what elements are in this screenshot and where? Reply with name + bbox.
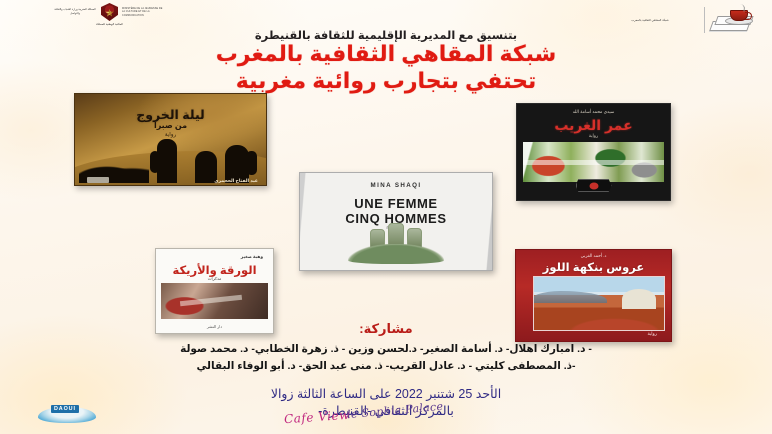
- book-2-cover-artwork: [523, 142, 664, 182]
- book-5-title: عروس بنكهة اللوز: [516, 260, 671, 274]
- poster-title: شبكة المقاهي الثقافية بالمغرب تحتفي بتجا…: [0, 41, 772, 95]
- book-2-author: سيدي محمد أسامة الله: [517, 109, 670, 115]
- book-4-title: الورقة والأريكة: [156, 263, 273, 277]
- poster-title-line-1: شبكة المقاهي الثقافية بالمغرب: [0, 41, 772, 68]
- steam-shape: [736, 3, 746, 11]
- book-cover-omar-algharib: سيدي محمد أسامة الله عمر الغريب رواية: [516, 103, 671, 201]
- ministry-logo-text-fr: MINISTÈRE DE LA JEUNESSE DE LA CULTURE E…: [122, 7, 166, 17]
- ministry-logo-subtitle: المكتبة الوطنية للمملكة: [42, 22, 177, 26]
- daoui-sponsor-logo: DAOUI: [38, 398, 96, 424]
- book-3-title: UNE FEMME CINQ HOMMES: [300, 197, 492, 226]
- person-silhouette-1: [157, 139, 177, 183]
- event-date-line: الأحد 25 شتنبر 2022 على الساعة الثالثة ز…: [0, 386, 772, 403]
- book-1-title-line-2: من صبرا: [75, 121, 266, 130]
- hamsa-palm: [348, 244, 444, 264]
- book-2-publisher-logo: [576, 179, 612, 192]
- participants-list: - د. امبارك اهلال- د. أسامة الصغير- د.لح…: [0, 341, 772, 376]
- ministry-logo-text-ar: المملكة المغربية وزارة الشباب والثقافة و…: [53, 8, 97, 16]
- book-1-author: عبد الفتاح الحجمري: [214, 178, 258, 184]
- hamsa-hand-artwork: [348, 224, 444, 264]
- book-1-genre: رواية: [75, 132, 266, 138]
- book-cover-une-femme-cinq-hommes: MINA SHAQI UNE FEMME CINQ HOMMES roman: [299, 172, 493, 271]
- book-4-cover-artwork: [161, 283, 268, 319]
- book-3-author: MINA SHAQI: [300, 182, 492, 189]
- coordination-line: بتنسيق مع المديرية الإقليمية للثقافة بال…: [0, 28, 772, 42]
- book-cover-laylat-alkhuruj: ليلة الخروج من صبرا رواية عبد الفتاح الح…: [74, 93, 267, 186]
- participants-line-2: -ذ. المصطفى كليتي - د. عادل القريب- ذ. م…: [0, 358, 772, 375]
- book-5-author: د. أحمد الغربي: [516, 253, 671, 259]
- morocco-coat-of-arms-icon: [101, 3, 118, 21]
- cafe-network-logo-text: شبكة المقاهي الثقافية بالمغرب: [602, 18, 698, 22]
- book-4-author: وهبة صغير: [241, 254, 263, 260]
- book-2-genre: رواية: [517, 133, 670, 139]
- poster-title-line-2: تحتفي بتجارب روائية مغربية: [0, 68, 772, 95]
- ministry-logo-row: MINISTÈRE DE LA JEUNESSE DE LA CULTURE E…: [42, 3, 177, 21]
- book-2-title: عمر الغريب: [517, 117, 670, 134]
- book-3-title-line-1: UNE FEMME: [300, 197, 492, 212]
- daoui-logo-text: DAOUI: [51, 405, 79, 413]
- book-1-publisher-mark: [87, 177, 109, 183]
- participants-label: مشاركة:: [0, 321, 772, 337]
- book-4-genre: مذكرات: [156, 276, 273, 281]
- participants-line-1: - د. امبارك اهلال- د. أسامة الصغير- د.لح…: [0, 341, 772, 358]
- poster-canvas: MINISTÈRE DE LA JEUNESSE DE LA CULTURE E…: [0, 0, 772, 434]
